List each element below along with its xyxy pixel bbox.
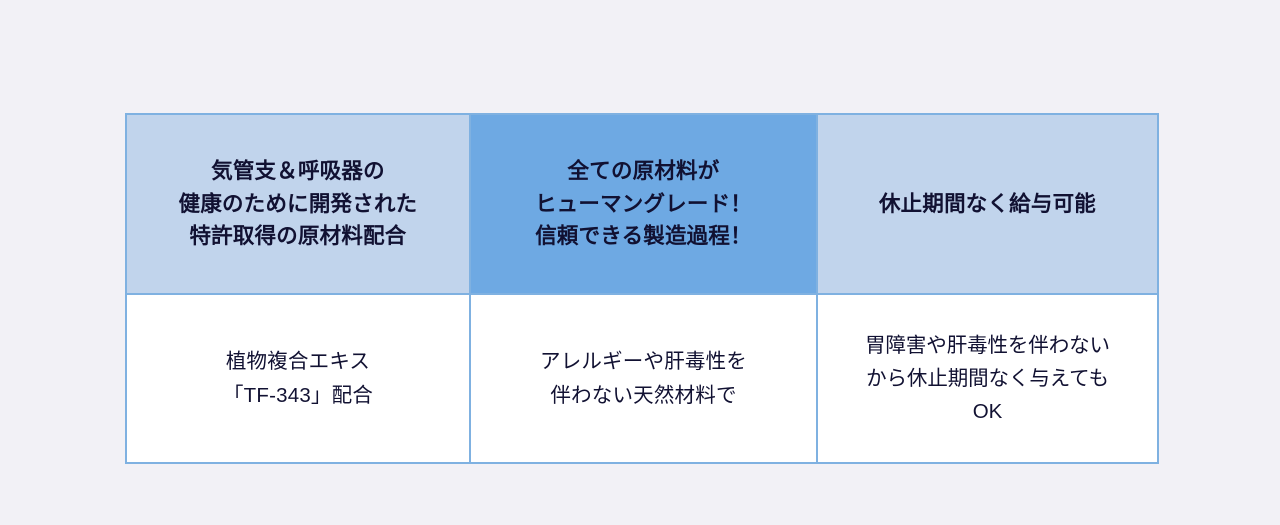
header-cell-1: 気管支＆呼吸器の 健康のために開発された 特許取得の原材料配合	[126, 114, 470, 294]
body-cell-1-text: 植物複合エキス 「TF-343」配合	[127, 345, 469, 411]
header-cell-3: 休止期間なく給与可能	[817, 114, 1158, 294]
header-cell-2-text: 全ての原材料が ヒューマングレード！ 信頼できる製造過程！	[471, 155, 816, 253]
body-cell-1: 植物複合エキス 「TF-343」配合	[126, 294, 470, 463]
feature-comparison-table: 気管支＆呼吸器の 健康のために開発された 特許取得の原材料配合 全ての原材料が …	[125, 113, 1159, 464]
header-cell-3-text: 休止期間なく給与可能	[818, 188, 1157, 221]
table-body-row: 植物複合エキス 「TF-343」配合 アレルギーや肝毒性を 伴わない天然材料で …	[126, 294, 1158, 463]
header-cell-2: 全ての原材料が ヒューマングレード！ 信頼できる製造過程！	[470, 114, 817, 294]
body-cell-3: 胃障害や肝毒性を伴わない から休止期間なく与えても OK	[817, 294, 1158, 463]
body-cell-2-text: アレルギーや肝毒性を 伴わない天然材料で	[471, 345, 816, 411]
body-cell-2: アレルギーや肝毒性を 伴わない天然材料で	[470, 294, 817, 463]
body-cell-3-text: 胃障害や肝毒性を伴わない から休止期間なく与えても OK	[818, 329, 1157, 429]
header-cell-1-text: 気管支＆呼吸器の 健康のために開発された 特許取得の原材料配合	[127, 155, 469, 253]
table-header-row: 気管支＆呼吸器の 健康のために開発された 特許取得の原材料配合 全ての原材料が …	[126, 114, 1158, 294]
